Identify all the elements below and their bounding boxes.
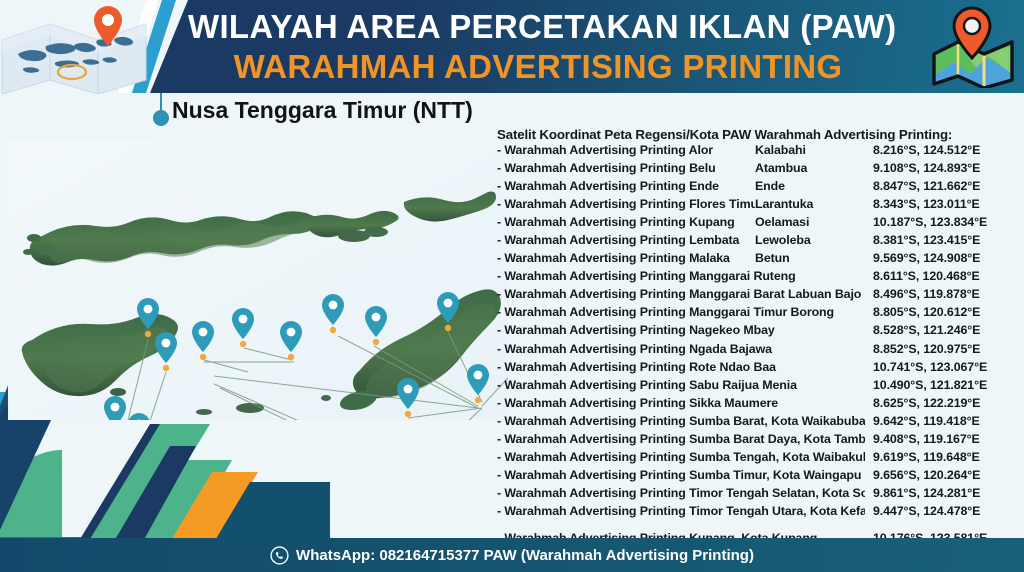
footer-bar: WhatsApp: 082164715377 PAW (Warahmah Adv… (0, 538, 1024, 572)
region-title: Nusa Tenggara Timur (NTT) (172, 97, 473, 124)
listing-row-coordinate: 8.496°S, 119.878°E (865, 287, 1024, 301)
listing-row-name: - Warahmah Advertising Printing Ende (497, 179, 755, 193)
listing-row-name: - Warahmah Advertising Printing Ngada Ba… (497, 342, 865, 356)
listing-row: - Warahmah Advertising Printing MalakaBe… (497, 251, 1024, 269)
listing-row-coordinate: 9.447°S, 124.478°E (865, 504, 1024, 518)
listing-row-coordinate: 8.343°S, 123.011°E (865, 197, 1024, 211)
listing-row-name: - Warahmah Advertising Printing Sikka Ma… (497, 396, 865, 410)
listing-row-name: - Warahmah Advertising Printing Nagekeo … (497, 323, 865, 337)
listing-row-name: - Warahmah Advertising Printing Sabu Rai… (497, 378, 865, 392)
map-location-pin-icon (930, 6, 1016, 88)
listing-row-name: - Warahmah Advertising Printing Sumba Ti… (497, 468, 865, 482)
listing-row: - Warahmah Advertising Printing Sumba Te… (497, 450, 1024, 468)
listing-row: - Warahmah Advertising Printing Sikka Ma… (497, 396, 1024, 414)
listing-row-name: - Warahmah Advertising Printing Manggara… (497, 305, 865, 319)
listing-row-coordinate: 9.861°S, 124.281°E (865, 486, 1024, 500)
listing-row-name: - Warahmah Advertising Printing Manggara… (497, 287, 865, 301)
listing-row: - Warahmah Advertising Printing Sabu Rai… (497, 378, 1024, 396)
listing-row-name: - Warahmah Advertising Printing Sumba Te… (497, 450, 865, 464)
listing-row-city: Atambua (755, 161, 865, 175)
listing-panel: Satelit Koordinat Peta Regensi/Kota PAW … (497, 127, 1024, 549)
listing-row: - Warahmah Advertising Printing Sumba Ba… (497, 414, 1024, 432)
listing-row-name: - Warahmah Advertising Printing Malaka (497, 251, 755, 265)
listing-row: - Warahmah Advertising Printing Nagekeo … (497, 323, 1024, 341)
region-pin-icon (152, 93, 170, 129)
listing-row-coordinate: 9.569°S, 124.908°E (865, 251, 1024, 265)
listing-row-coordinate: 8.852°S, 120.975°E (865, 342, 1024, 356)
listing-row: - Warahmah Advertising Printing EndeEnde… (497, 179, 1024, 197)
listing-row-city: Lewoleba (755, 233, 865, 247)
listing-row-city: Oelamasi (755, 215, 865, 229)
listing-row: - Warahmah Advertising Printing Manggara… (497, 305, 1024, 323)
listing-row-city: Betun (755, 251, 865, 265)
listing-row-coordinate: 8.611°S, 120.468°E (865, 269, 1024, 283)
footer-contact-text: WhatsApp: 082164715377 PAW (Warahmah Adv… (296, 547, 754, 564)
listing-row-name: - Warahmah Advertising Printing Rote Nda… (497, 360, 865, 374)
listing-row: - Warahmah Advertising Printing Manggara… (497, 287, 1024, 305)
listing-row-coordinate: 10.187°S, 123.834°E (865, 215, 1024, 229)
listing-row: - Warahmah Advertising Printing Sumba Ba… (497, 432, 1024, 450)
listing-header: Satelit Koordinat Peta Regensi/Kota PAW … (497, 127, 1024, 142)
listing-row: - Warahmah Advertising Printing Manggara… (497, 269, 1024, 287)
folded-map-icon (0, 2, 160, 94)
whatsapp-icon (270, 546, 289, 565)
listing-row: - Warahmah Advertising Printing Ngada Ba… (497, 342, 1024, 360)
listing-row-coordinate: 9.408°S, 119.167°E (865, 432, 1024, 446)
listing-rows: - Warahmah Advertising Printing AlorKala… (497, 143, 1024, 549)
listing-row-coordinate: 8.625°S, 122.219°E (865, 396, 1024, 410)
listing-row-coordinate: 10.490°S, 121.821°E (865, 378, 1024, 392)
listing-row-name: - Warahmah Advertising Printing Alor (497, 143, 755, 157)
listing-row: - Warahmah Advertising Printing AlorKala… (497, 143, 1024, 161)
listing-row: - Warahmah Advertising Printing LembataL… (497, 233, 1024, 251)
page-title-line1: WILAYAH AREA PERCETAKAN IKLAN (PAW) (188, 8, 888, 46)
listing-row-name: - Warahmah Advertising Printing Kupang (497, 215, 755, 229)
listing-row-coordinate: 9.656°S, 120.264°E (865, 468, 1024, 482)
listing-row-coordinate: 9.619°S, 119.648°E (865, 450, 1024, 464)
map-marker-pin[interactable] (104, 396, 126, 420)
listing-row: - Warahmah Advertising Printing Timor Te… (497, 504, 1024, 522)
listing-row-name: - Warahmah Advertising Printing Timor Te… (497, 504, 865, 518)
listing-row-name: - Warahmah Advertising Printing Sumba Ba… (497, 414, 865, 428)
infographic-canvas: WILAYAH AREA PERCETAKAN IKLAN (PAW) WARA… (0, 0, 1024, 572)
page-title-line2: WARAHMAH ADVERTISING PRINTING (188, 48, 888, 86)
listing-row-city: Kalabahi (755, 143, 865, 157)
listing-row-name: - Warahmah Advertising Printing Manggara… (497, 269, 865, 283)
listing-row: - Warahmah Advertising Printing Timor Te… (497, 486, 1024, 504)
listing-row-coordinate: 9.108°S, 124.893°E (865, 161, 1024, 175)
listing-row-name: - Warahmah Advertising Printing Flores T… (497, 197, 755, 211)
listing-row-coordinate: 9.642°S, 119.418°E (865, 414, 1024, 428)
listing-row-name: - Warahmah Advertising Printing Timor Te… (497, 486, 865, 500)
listing-row: - Warahmah Advertising Printing Rote Nda… (497, 360, 1024, 378)
listing-row-coordinate: 8.381°S, 123.415°E (865, 233, 1024, 247)
listing-row-coordinate: 8.805°S, 120.612°E (865, 305, 1024, 319)
listing-row: - Warahmah Advertising Printing BeluAtam… (497, 161, 1024, 179)
listing-row-coordinate: 8.847°S, 121.662°E (865, 179, 1024, 193)
satellite-map (8, 140, 508, 420)
listing-row-city: Larantuka (755, 197, 865, 211)
listing-row-name: - Warahmah Advertising Printing Belu (497, 161, 755, 175)
listing-row: - Warahmah Advertising Printing KupangOe… (497, 215, 1024, 233)
listing-row-coordinate: 8.216°S, 124.512°E (865, 143, 1024, 157)
listing-row: - Warahmah Advertising Printing Flores T… (497, 197, 1024, 215)
listing-row-name: - Warahmah Advertising Printing Sumba Ba… (497, 432, 865, 446)
listing-row-city: Ende (755, 179, 865, 193)
listing-row: - Warahmah Advertising Printing Sumba Ti… (497, 468, 1024, 486)
listing-row-coordinate: 10.741°S, 123.067°E (865, 360, 1024, 374)
listing-row-coordinate: 8.528°S, 121.246°E (865, 323, 1024, 337)
listing-row-name: - Warahmah Advertising Printing Lembata (497, 233, 755, 247)
